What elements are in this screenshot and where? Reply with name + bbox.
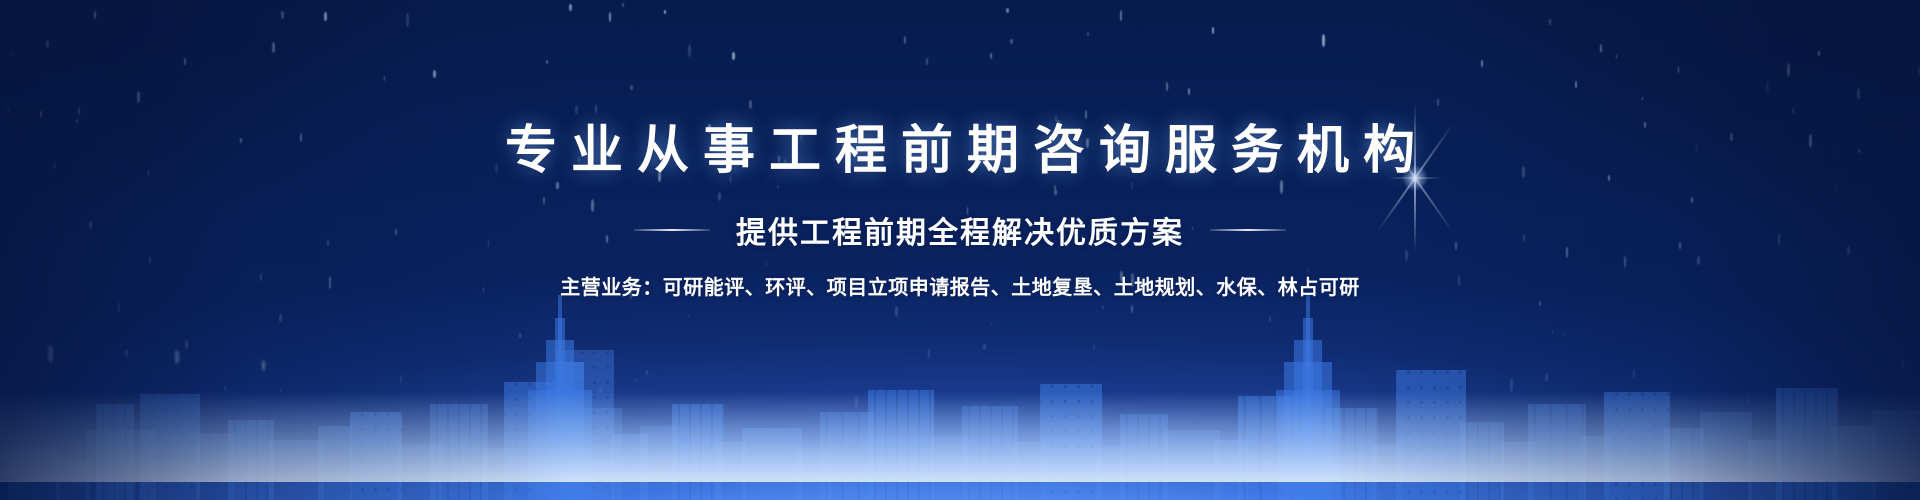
promo-banner: 专业从事工程前期咨询服务机构 提供工程前期全程解决优质方案 主营业务：可研能评、… bbox=[0, 0, 1920, 500]
left-rule-decoration bbox=[634, 229, 710, 231]
banner-services-line: 主营业务：可研能评、环评、项目立项申请报告、土地复垦、土地规划、水保、林占可研 bbox=[0, 271, 1920, 300]
banner-headline: 专业从事工程前期咨询服务机构 bbox=[0, 122, 1920, 180]
banner-subtitle-row: 提供工程前期全程解决优质方案 bbox=[0, 208, 1920, 252]
banner-text-block: 专业从事工程前期咨询服务机构 提供工程前期全程解决优质方案 主营业务：可研能评、… bbox=[0, 0, 1920, 320]
banner-subtitle: 提供工程前期全程解决优质方案 bbox=[736, 208, 1184, 252]
right-rule-decoration bbox=[1210, 229, 1286, 231]
